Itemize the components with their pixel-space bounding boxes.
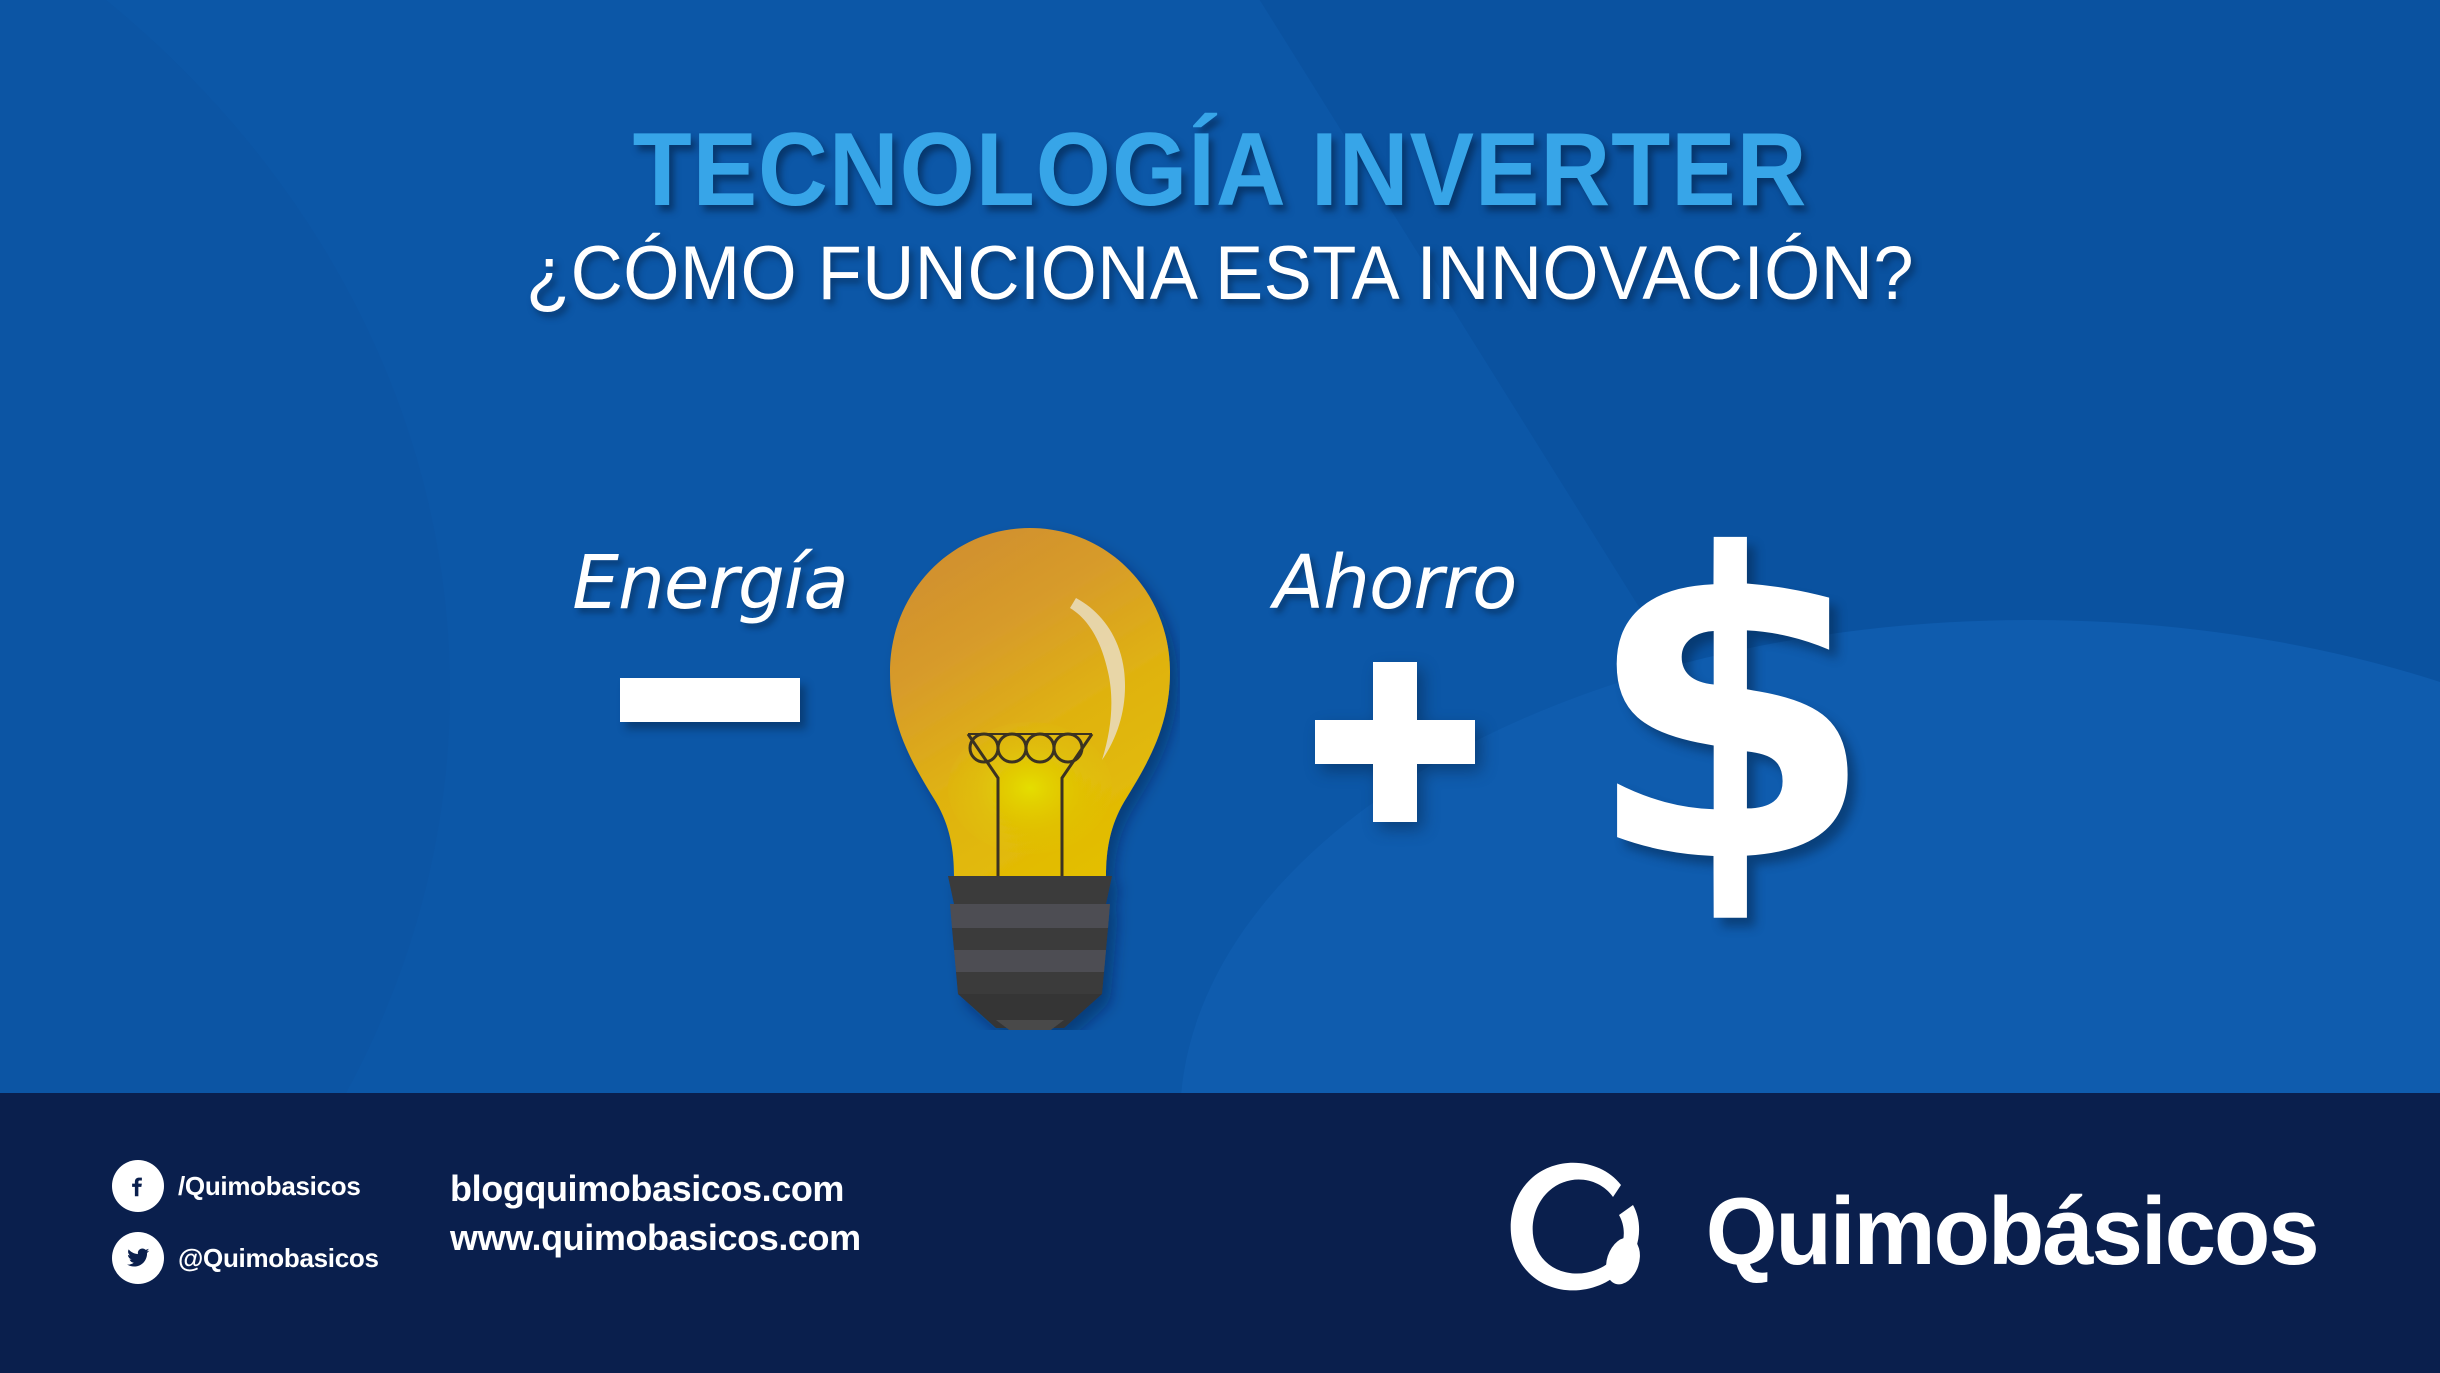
website-urls: blogquimobasicos.com www.quimobasicos.co… [450, 1165, 861, 1262]
energy-group: Energía [570, 540, 850, 722]
twitter-icon[interactable] [112, 1232, 164, 1284]
savings-label: Ahorro [1250, 540, 1540, 626]
page-subtitle: ¿CÓMO FUNCIONA ESTA INNOVACIÓN? [61, 234, 2379, 314]
quimobasicos-swirl-logo-icon [1501, 1149, 1671, 1314]
plus-sign-icon [1315, 662, 1475, 822]
money-group: $ [1580, 540, 1880, 884]
page-title: TECNOLOGÍA INVERTER [85, 118, 2354, 222]
social-links: /Quimobasicos @Quimobasicos [112, 1155, 379, 1299]
poster-canvas: TECNOLOGÍA INVERTER ¿CÓMO FUNCIONA ESTA … [0, 0, 2440, 1373]
energy-label: Energía [570, 540, 850, 626]
poster-footer: /Quimobasicos @Quimobasicos blogquimobas… [0, 1093, 2440, 1373]
brand-logo: Quimobásicos [1501, 1149, 2331, 1314]
poster-header: TECNOLOGÍA INVERTER ¿CÓMO FUNCIONA ESTA … [0, 118, 2440, 314]
light-bulb-icon [880, 520, 1180, 1035]
plus-vertical-bar [1373, 662, 1417, 822]
minus-sign-icon [620, 678, 800, 722]
facebook-handle[interactable]: /Quimobasicos [178, 1171, 360, 1202]
facebook-icon[interactable] [112, 1160, 164, 1212]
social-row-facebook[interactable]: /Quimobasicos [112, 1155, 379, 1217]
equation-row: Energía [0, 520, 2440, 1080]
site-url[interactable]: www.quimobasicos.com [450, 1214, 861, 1263]
savings-group: Ahorro [1250, 540, 1540, 822]
twitter-handle[interactable]: @Quimobasicos [178, 1243, 379, 1274]
blog-url[interactable]: blogquimobasicos.com [450, 1165, 861, 1214]
social-row-twitter[interactable]: @Quimobasicos [112, 1227, 379, 1289]
dollar-sign-icon: $ [1580, 540, 1880, 884]
brand-name: Quimobásicos [1705, 1184, 2317, 1280]
